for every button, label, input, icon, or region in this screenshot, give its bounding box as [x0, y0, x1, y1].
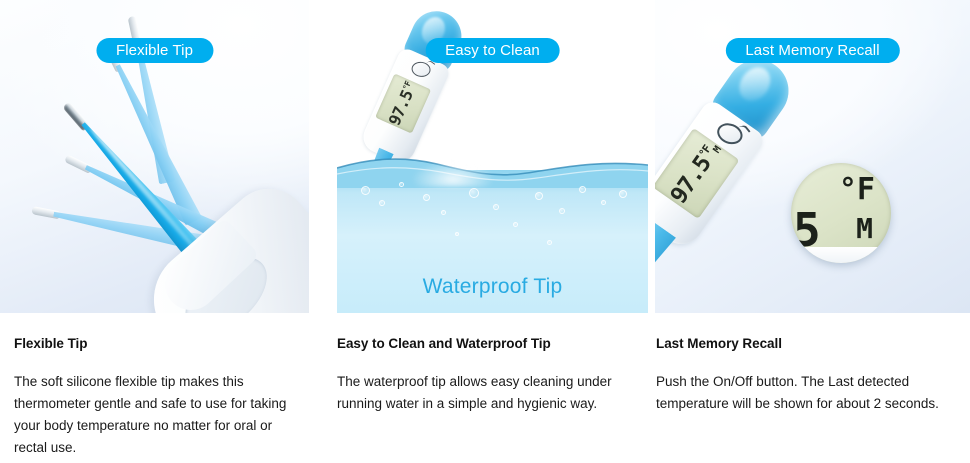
- badge-last-memory-recall: Last Memory Recall: [725, 38, 899, 63]
- magnified-unit: °F: [839, 175, 875, 205]
- caption-last-memory-recall: Last Memory Recall Push the On/Off butto…: [656, 313, 956, 415]
- caption-easy-to-clean: Easy to Clean and Waterproof Tip The wat…: [337, 313, 637, 415]
- panel-flexible-tip: Flexible Tip: [0, 0, 309, 313]
- caption-body: Push the On/Off button. The Last detecte…: [656, 371, 956, 415]
- magnified-memory-flag: M: [856, 215, 873, 243]
- water-splash: [411, 161, 495, 187]
- caption-body: The soft silicone flexible tip makes thi…: [14, 371, 306, 459]
- lcd-reading: 97.5°F: [385, 79, 421, 128]
- magnifier-base: [791, 247, 891, 263]
- panel-last-memory-recall: 97.5°FM °F 5 M Last Memory Recall: [655, 0, 970, 313]
- caption-heading: Easy to Clean and Waterproof Tip: [337, 336, 637, 351]
- panel-row: Flexible Tip 97.5°F: [0, 0, 970, 313]
- caption-flexible-tip: Flexible Tip The soft silicone flexible …: [14, 313, 306, 459]
- caption-heading: Last Memory Recall: [656, 336, 956, 351]
- caption-heading: Flexible Tip: [14, 336, 306, 351]
- panel-easy-to-clean: 97.5°F: [337, 0, 648, 313]
- badge-easy-to-clean: Easy to Clean: [425, 38, 560, 63]
- badge-flexible-tip: Flexible Tip: [96, 38, 213, 63]
- caption-row: Flexible Tip The soft silicone flexible …: [0, 313, 970, 463]
- waterproof-tip-label: Waterproof Tip: [337, 275, 648, 299]
- caption-body: The waterproof tip allows easy cleaning …: [337, 371, 637, 415]
- lcd-magnifier-callout: °F 5 M: [791, 163, 891, 263]
- feature-strip: Flexible Tip 97.5°F: [0, 0, 970, 463]
